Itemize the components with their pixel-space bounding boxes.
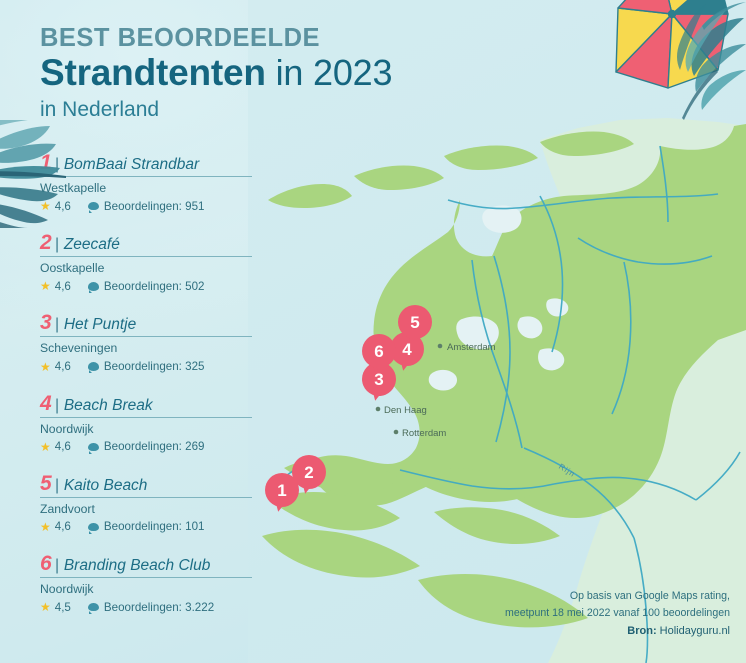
comment-bubble-icon — [88, 443, 99, 452]
list-item[interactable]: 3 | Het Puntje Scheveningen ★ 4,6 Beoord… — [40, 312, 252, 373]
entry-place: Noordwijk — [40, 422, 252, 437]
entry-meta: ★ 4,6 Beoordelingen: 101 — [40, 520, 252, 533]
entry-reviews-count: 951 — [185, 200, 204, 213]
entry-meta: ★ 4,6 Beoordelingen: 325 — [40, 360, 252, 373]
page-title: Strandtenten in 2023 — [40, 54, 510, 93]
list-item[interactable]: 4 | Beach Break Noordwijk ★ 4,6 Beoordel… — [40, 393, 252, 454]
entry-separator: | — [55, 478, 59, 494]
map-pin-2[interactable]: 2 — [292, 455, 326, 489]
entry-reviews-label: Beoordelingen: — [104, 280, 182, 293]
pin-label: 5 — [398, 305, 432, 339]
title-strong: Strandtenten — [40, 52, 266, 93]
entry-rating: 4,6 — [55, 440, 71, 453]
pin-label: 6 — [362, 334, 396, 368]
entry-separator: | — [55, 317, 59, 333]
entry-venue-name: Beach Break — [64, 397, 153, 414]
methodology-note-line1: Op basis van Google Maps rating, — [430, 588, 730, 605]
poster-header: BEST BEOORDEELDE Strandtenten in 2023 in… — [40, 24, 510, 122]
entry-rating: 4,6 — [55, 520, 71, 533]
entry-separator: | — [55, 398, 59, 414]
entry-rank: 3 — [40, 312, 52, 333]
entry-meta: ★ 4,5 Beoordelingen: 3.222 — [40, 601, 252, 614]
entry-venue-name: Zeecafé — [64, 236, 120, 253]
sea-label-ijsselmeer: IJsselmeer — [248, 0, 321, 3]
entry-reviews-label: Beoordelingen: — [104, 200, 182, 213]
entry-rank: 6 — [40, 553, 52, 574]
entry-venue-name: Branding Beach Club — [64, 557, 211, 574]
star-icon: ★ — [40, 521, 51, 533]
entry-reviews-count: 269 — [185, 440, 204, 453]
entry-reviews-count: 502 — [185, 280, 204, 293]
entry-heading: 5 | Kaito Beach — [40, 473, 252, 498]
entry-heading: 4 | Beach Break — [40, 393, 252, 418]
methodology-note: Op basis van Google Maps rating, meetpun… — [430, 588, 730, 622]
entry-venue-name: Het Puntje — [64, 316, 136, 333]
entry-venue-name: Kaito Beach — [64, 477, 148, 494]
star-icon: ★ — [40, 441, 51, 453]
map-pin-5[interactable]: 5 — [398, 305, 432, 339]
infographic-poster: Wadden Sea IJsselmeer Rijn Amsterdam Den… — [0, 0, 746, 663]
city-label-den-haag: Den Haag — [384, 405, 427, 416]
list-item[interactable]: 5 | Kaito Beach Zandvoort ★ 4,6 Beoordel… — [40, 473, 252, 534]
entry-reviews-label: Beoordelingen: — [104, 360, 182, 373]
palm-frond-left-decoration — [0, 120, 88, 228]
entry-rating: 4,6 — [55, 280, 71, 293]
map-pin-6[interactable]: 6 — [362, 334, 396, 368]
entry-reviews-label: Beoordelingen: — [104, 440, 182, 453]
entry-rating: 4,5 — [55, 601, 71, 614]
entry-rank: 2 — [40, 232, 52, 253]
entry-heading: 6 | Branding Beach Club — [40, 553, 252, 578]
methodology-note-line2: meetpunt 18 mei 2022 vanaf 100 beoordeli… — [430, 605, 730, 622]
source-credit: Bron: Holidayguru.nl — [627, 625, 730, 637]
source-value: Holidayguru.nl — [657, 625, 730, 637]
pin-label: 2 — [292, 455, 326, 489]
star-icon: ★ — [40, 361, 51, 373]
list-item[interactable]: 6 | Branding Beach Club Noordwijk ★ 4,5 … — [40, 553, 252, 614]
city-label-rotterdam: Rotterdam — [402, 428, 446, 439]
comment-bubble-icon — [88, 603, 99, 612]
kicker-text: BEST BEOORDEELDE — [40, 24, 510, 53]
entry-reviews-count: 325 — [185, 360, 204, 373]
entry-place: Oostkapelle — [40, 261, 252, 276]
subtitle-text: in Nederland — [40, 98, 510, 122]
comment-bubble-icon — [88, 523, 99, 532]
entry-place: Noordwijk — [40, 582, 252, 597]
comment-bubble-icon — [88, 362, 99, 371]
entry-reviews-label: Beoordelingen: — [104, 520, 182, 533]
entry-meta: ★ 4,6 Beoordelingen: 502 — [40, 280, 252, 293]
entry-place: Scheveningen — [40, 341, 252, 356]
list-item[interactable]: 2 | Zeecafé Oostkapelle ★ 4,6 Beoordelin… — [40, 232, 252, 293]
entry-rank: 5 — [40, 473, 52, 494]
entry-heading: 2 | Zeecafé — [40, 232, 252, 257]
entry-meta: ★ 4,6 Beoordelingen: 269 — [40, 440, 252, 453]
star-icon: ★ — [40, 601, 51, 613]
star-icon: ★ — [40, 280, 51, 292]
entry-separator: | — [55, 558, 59, 574]
entry-reviews-count: 101 — [185, 520, 204, 533]
entry-place: Zandvoort — [40, 502, 252, 517]
title-rest: in 2023 — [266, 52, 393, 93]
entry-reviews-label: Beoordelingen: — [104, 601, 182, 614]
source-label: Bron: — [627, 625, 656, 637]
entry-separator: | — [55, 237, 59, 253]
entry-rating: 4,6 — [55, 360, 71, 373]
entry-heading: 3 | Het Puntje — [40, 312, 252, 337]
entry-rank: 4 — [40, 393, 52, 414]
city-label-amsterdam: Amsterdam — [447, 342, 496, 353]
palm-frond-right-decoration — [586, 0, 746, 120]
comment-bubble-icon — [88, 202, 99, 211]
entry-reviews-count: 3.222 — [185, 601, 214, 614]
comment-bubble-icon — [88, 282, 99, 291]
